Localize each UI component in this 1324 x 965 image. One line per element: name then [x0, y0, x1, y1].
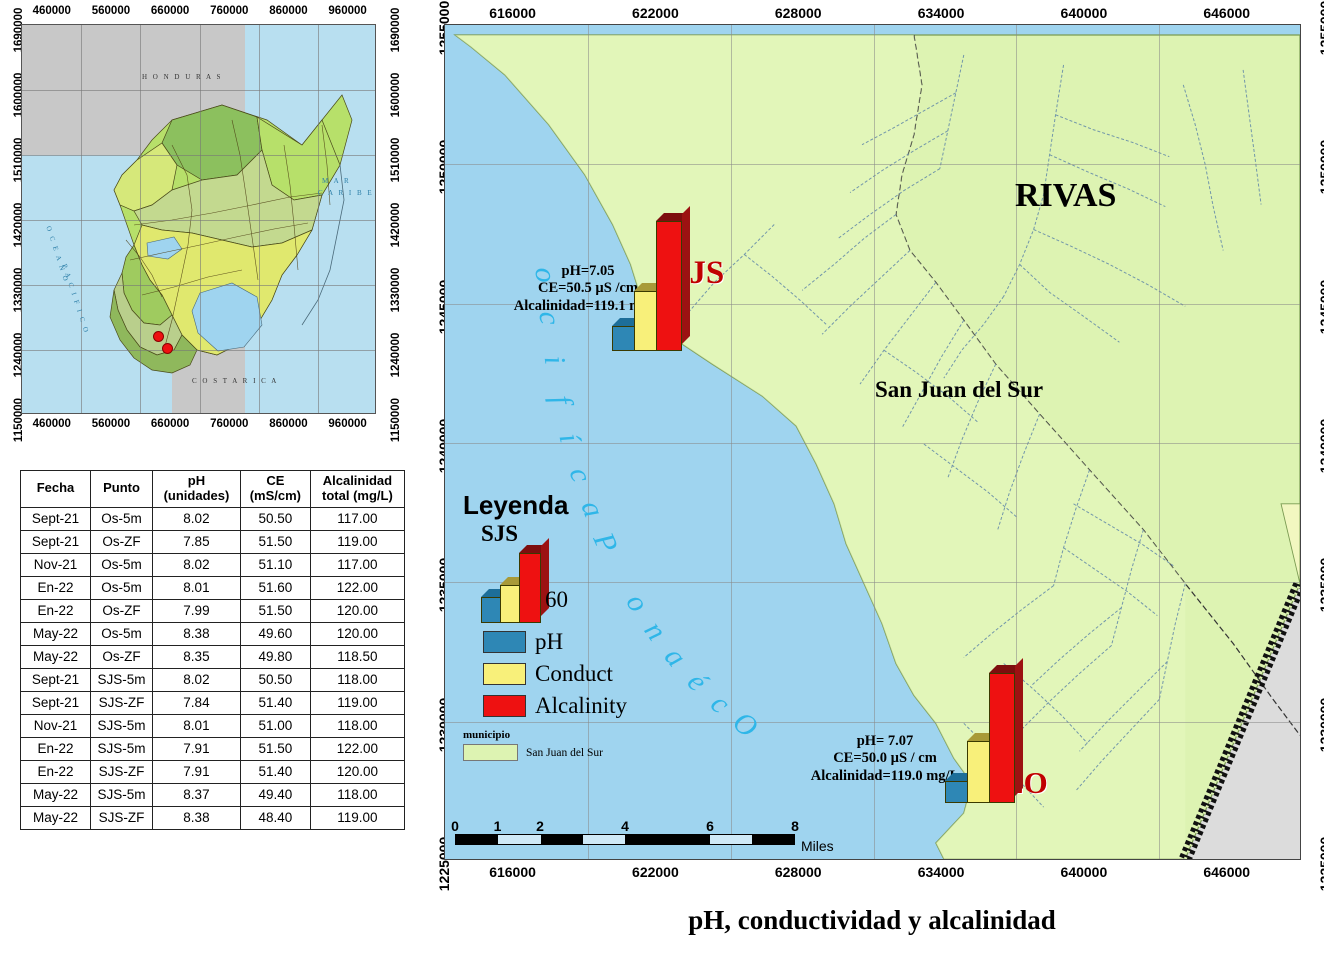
scale-tick-4: 6: [706, 818, 714, 834]
table-header-0: Fecha: [21, 471, 91, 508]
table-cell: 120.00: [310, 622, 404, 645]
inset-xtick-top-4: 860000: [269, 5, 307, 17]
table-row: May-22Os-5m8.3849.60120.00: [21, 622, 405, 645]
main-ytick-right-0: 1255000: [1317, 1, 1324, 56]
main-xtick-bottom-2: 628000: [775, 864, 822, 880]
table-row: May-22SJS-ZF8.3848.40119.00: [21, 806, 405, 829]
inset-xtick-bottom-4: 860000: [269, 418, 307, 430]
table-cell: 119.00: [310, 530, 404, 553]
table-cell: SJS-5m: [91, 714, 153, 737]
legend-swatch-alcalinity: [483, 695, 526, 717]
main-xtick-bottom-1: 622000: [632, 864, 679, 880]
main-ytick-right-5: 1230000: [1317, 697, 1324, 752]
inset-label-honduras: H O N D U R A S: [142, 73, 222, 81]
table-cell: 120.00: [310, 599, 404, 622]
inset-xtick-top-5: 960000: [328, 5, 366, 17]
table-row: En-22SJS-5m7.9151.50122.00: [21, 737, 405, 760]
main-gridline-h: [445, 164, 1301, 165]
main-xtick-top-2: 628000: [775, 5, 822, 21]
table-cell: May-22: [21, 806, 91, 829]
legend-chart-title: SJS: [481, 521, 723, 547]
legend-entry-ph: pH: [463, 629, 723, 655]
table-cell: 50.50: [240, 507, 310, 530]
table-header-row: FechaPuntopH(unidades)CE(mS/cm)Alcalinid…: [21, 471, 405, 508]
scale-bar-unit: Miles: [801, 838, 834, 854]
inset-ytick-right-1: 1600000: [390, 73, 402, 118]
label-san-juan-del-sur: San Juan del Sur: [875, 377, 1043, 403]
legend-swatch-ph: [483, 631, 526, 653]
table-cell: 117.00: [310, 553, 404, 576]
main-xtick-top-1: 622000: [632, 5, 679, 21]
table-cell: En-22: [21, 599, 91, 622]
scale-tick-5: 8: [791, 818, 799, 834]
site-marker-sjs: [153, 331, 164, 342]
table-cell: 7.91: [153, 737, 241, 760]
legend-label-conduct: Conduct: [535, 661, 613, 687]
table-cell: 51.40: [240, 760, 310, 783]
table-cell: 7.84: [153, 691, 241, 714]
main-xtick-bottom-3: 634000: [918, 864, 965, 880]
table-cell: Sept-21: [21, 507, 91, 530]
main-map-canvas: RIVAS San Juan del Sur OcéanoPacífico pH…: [444, 24, 1301, 860]
table-row: En-22Os-5m8.0151.60122.00: [21, 576, 405, 599]
legend-bar-alcalinity: [519, 553, 541, 623]
bar-chart-eo: [945, 673, 1035, 803]
inset-label-caribe: C A R I B E: [318, 189, 374, 197]
table-cell: SJS-ZF: [91, 760, 153, 783]
scale-bar: 012468 Miles: [455, 818, 875, 845]
main-gridline-h: [445, 443, 1301, 444]
table-cell: 119.00: [310, 691, 404, 714]
bar-eo-alcalinity: [989, 673, 1015, 803]
table-cell: 49.60: [240, 622, 310, 645]
main-xtick-top-5: 646000: [1203, 5, 1250, 21]
table-cell: 51.50: [240, 530, 310, 553]
inset-label-mar: M A R: [322, 177, 351, 185]
table-cell: 51.00: [240, 714, 310, 737]
inset-locator-map: 460000560000660000760000860000960000 460…: [0, 0, 420, 440]
table-header-2: pH(unidades): [153, 471, 241, 508]
table-cell: 117.00: [310, 507, 404, 530]
table-cell: May-22: [21, 622, 91, 645]
table-row: Nov-21SJS-5m8.0151.00118.00: [21, 714, 405, 737]
main-ytick-right-2: 1245000: [1317, 279, 1324, 334]
table-cell: 8.02: [153, 668, 241, 691]
table-cell: 119.00: [310, 806, 404, 829]
table-header-1: Punto: [91, 471, 153, 508]
table-cell: En-22: [21, 760, 91, 783]
main-xtick-bottom-0: 616000: [489, 864, 536, 880]
table-cell: SJS-5m: [91, 737, 153, 760]
table-cell: 7.99: [153, 599, 241, 622]
legend-label-ph: pH: [535, 629, 563, 655]
table-cell: 49.80: [240, 645, 310, 668]
site-marker-eo: [162, 343, 173, 354]
scale-bar-numbers: 012468: [455, 818, 875, 834]
main-ytick-right-4: 1235000: [1317, 558, 1324, 613]
table-cell: 118.00: [310, 783, 404, 806]
table-cell: Sept-21: [21, 668, 91, 691]
table-row: Sept-21SJS-ZF7.8451.40119.00: [21, 691, 405, 714]
scale-tick-0: 0: [451, 818, 459, 834]
legend-label-municipio: San Juan del Sur: [526, 747, 603, 759]
main-xtick-bottom-4: 640000: [1061, 864, 1108, 880]
table-cell: 8.38: [153, 622, 241, 645]
table-cell: Os-ZF: [91, 599, 153, 622]
table-header-3: CE(mS/cm): [240, 471, 310, 508]
table-cell: 118.00: [310, 714, 404, 737]
table-cell: Os-5m: [91, 622, 153, 645]
table-cell: 51.50: [240, 599, 310, 622]
table-cell: 51.60: [240, 576, 310, 599]
inset-xtick-bottom-2: 660000: [151, 418, 189, 430]
scale-tick-1: 1: [494, 818, 502, 834]
water-quality-table: FechaPuntopH(unidades)CE(mS/cm)Alcalinid…: [20, 470, 405, 830]
table-cell: En-22: [21, 737, 91, 760]
main-ytick-right-1: 1250000: [1317, 140, 1324, 195]
table-cell: 118.50: [310, 645, 404, 668]
table-cell: Os-5m: [91, 553, 153, 576]
table-cell: Sept-21: [21, 691, 91, 714]
legend-swatch-municipio: [463, 744, 518, 761]
table-cell: SJS-5m: [91, 668, 153, 691]
table-cell: 51.50: [240, 737, 310, 760]
main-xtick-bottom-5: 646000: [1203, 864, 1250, 880]
table-cell: 120.00: [310, 760, 404, 783]
table-row: Sept-21Os-5m8.0250.50117.00: [21, 507, 405, 530]
inset-xtick-top-2: 660000: [151, 5, 189, 17]
legend-axis-value: 60: [545, 587, 568, 613]
main-xtick-top-4: 640000: [1061, 5, 1108, 21]
scale-tick-3: 4: [621, 818, 629, 834]
table-cell: Os-ZF: [91, 645, 153, 668]
table-cell: Os-ZF: [91, 530, 153, 553]
inset-xtick-top-0: 460000: [33, 5, 71, 17]
table-cell: Os-5m: [91, 507, 153, 530]
legend-label-alcalinity: Alcalinity: [535, 693, 627, 719]
table-cell: 51.40: [240, 691, 310, 714]
table-row: Nov-21Os-5m8.0251.10117.00: [21, 553, 405, 576]
inset-xtick-bottom-5: 960000: [328, 418, 366, 430]
inset-ytick-right-0: 1690000: [390, 8, 402, 53]
table-row: Sept-21Os-ZF7.8551.50119.00: [21, 530, 405, 553]
table-row: May-22SJS-5m8.3749.40118.00: [21, 783, 405, 806]
inset-xtick-top-1: 560000: [92, 5, 130, 17]
table-cell: 51.10: [240, 553, 310, 576]
table-cell: 49.40: [240, 783, 310, 806]
table-cell: 8.35: [153, 645, 241, 668]
legend-title: Leyenda: [463, 490, 723, 521]
table-header-4: Alcalinidadtotal (mg/L): [310, 471, 404, 508]
table-body: Sept-21Os-5m8.0250.50117.00Sept-21Os-ZF7…: [21, 507, 405, 829]
table-row: May-22Os-ZF8.3549.80118.50: [21, 645, 405, 668]
table-cell: 122.00: [310, 576, 404, 599]
table-cell: 8.01: [153, 576, 241, 599]
inset-ytick-right-4: 1330000: [390, 268, 402, 313]
legend-municipio-entry: San Juan del Sur: [463, 744, 723, 761]
inset-label-costarica: C O S T A R I C A: [192, 377, 278, 385]
table-cell: Nov-21: [21, 714, 91, 737]
label-rivas: RIVAS: [1015, 177, 1116, 215]
inset-xtick-bottom-0: 460000: [33, 418, 71, 430]
main-xtick-top-0: 616000: [489, 5, 536, 21]
inset-ytick-right-3: 1420000: [390, 203, 402, 248]
scale-bar-graphic: [455, 834, 795, 845]
bar-sjs-alcalinity: [656, 221, 682, 351]
table-cell: 7.85: [153, 530, 241, 553]
legend-entry-alcalinity: Alcalinity: [463, 693, 723, 719]
water-quality-table-wrap: FechaPuntopH(unidades)CE(mS/cm)Alcalinid…: [20, 470, 405, 830]
inset-xtick-bottom-1: 560000: [92, 418, 130, 430]
legend-municipio-title: municipio: [463, 729, 723, 741]
table-cell: SJS-ZF: [91, 691, 153, 714]
table-cell: SJS-5m: [91, 783, 153, 806]
table-row: Sept-21SJS-5m8.0250.50118.00: [21, 668, 405, 691]
scale-tick-2: 2: [536, 818, 544, 834]
table-cell: 8.02: [153, 507, 241, 530]
table-cell: 118.00: [310, 668, 404, 691]
nicaragua-departments: [22, 25, 376, 414]
figure-title: pH, conductividad y alcalinidad: [420, 905, 1324, 936]
inset-map-canvas: H O N D U R A S C O S T A R I C A M A R …: [21, 24, 376, 414]
table-cell: Nov-21: [21, 553, 91, 576]
table-cell: 8.02: [153, 553, 241, 576]
table-cell: May-22: [21, 783, 91, 806]
inset-ytick-right-6: 1150000: [390, 398, 402, 442]
table-row: En-22Os-ZF7.9951.50120.00: [21, 599, 405, 622]
inset-ytick-right-5: 1240000: [390, 333, 402, 378]
main-map-panel: 616000622000628000634000640000646000 616…: [420, 0, 1324, 900]
table-cell: Sept-21: [21, 530, 91, 553]
table-cell: SJS-ZF: [91, 806, 153, 829]
table-cell: 48.40: [240, 806, 310, 829]
table-cell: May-22: [21, 645, 91, 668]
table-cell: 8.38: [153, 806, 241, 829]
table-cell: 122.00: [310, 737, 404, 760]
legend-swatch-conduct: [483, 663, 526, 685]
table-cell: 8.37: [153, 783, 241, 806]
inset-xtick-bottom-3: 760000: [210, 418, 248, 430]
map-legend: Leyenda SJS: [463, 490, 723, 761]
table-cell: En-22: [21, 576, 91, 599]
table-row: En-22SJS-ZF7.9151.40120.00: [21, 760, 405, 783]
table-cell: Os-5m: [91, 576, 153, 599]
main-ytick-right-3: 1240000: [1317, 419, 1324, 474]
table-cell: 50.50: [240, 668, 310, 691]
inset-ytick-right-2: 1510000: [390, 138, 402, 183]
main-xtick-top-3: 634000: [918, 5, 965, 21]
bar-chart-sjs: [612, 221, 702, 351]
table-cell: 8.01: [153, 714, 241, 737]
main-ytick-right-6: 1225000: [1317, 837, 1324, 892]
inset-xtick-top-3: 760000: [210, 5, 248, 17]
legend-entry-conduct: Conduct: [463, 661, 723, 687]
table-cell: 7.91: [153, 760, 241, 783]
legend-sample-chart: 60: [463, 549, 723, 623]
